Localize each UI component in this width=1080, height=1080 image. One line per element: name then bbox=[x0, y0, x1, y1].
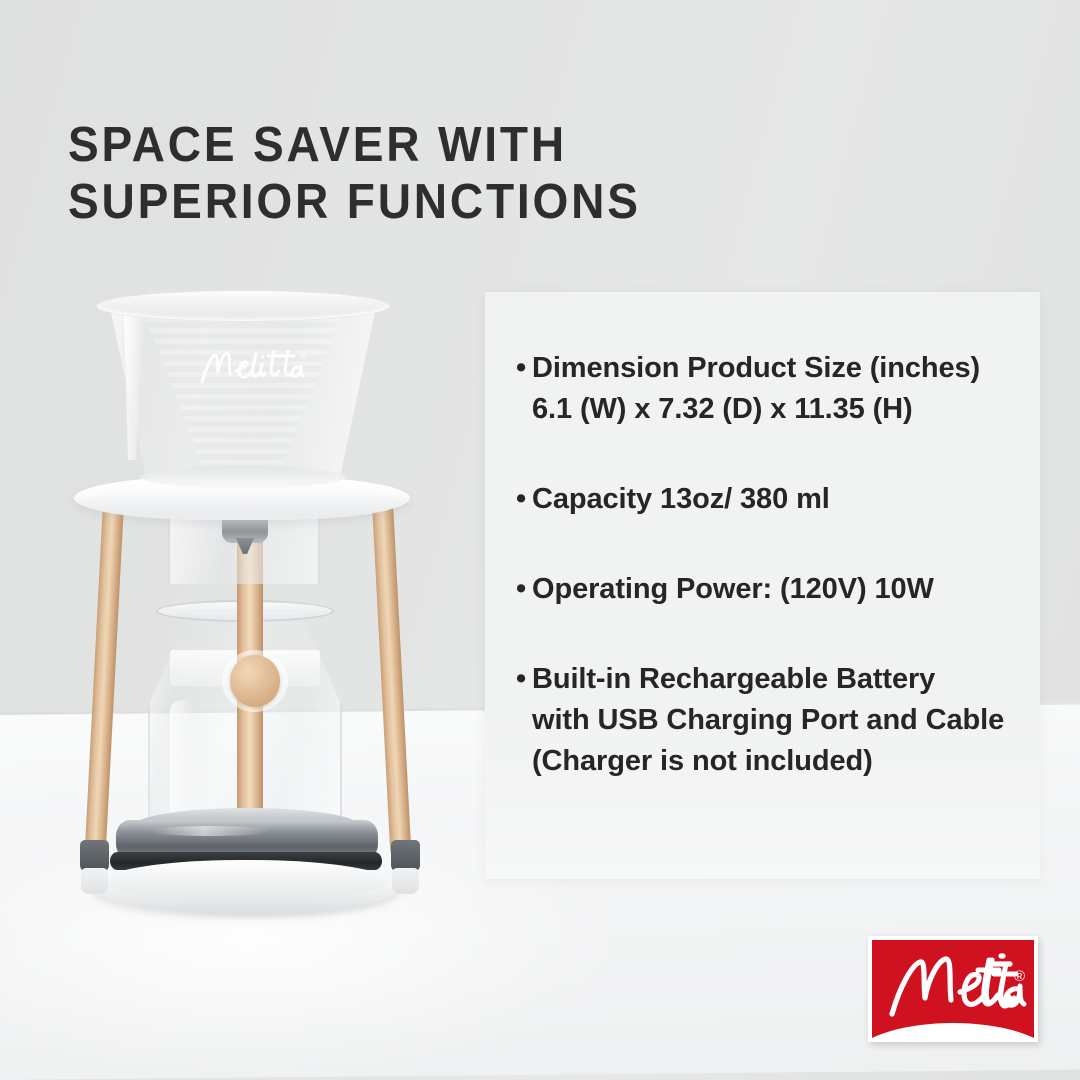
foot-tip-right bbox=[392, 868, 419, 894]
svg-text:®: ® bbox=[300, 350, 307, 360]
melitta-wordmark: ® bbox=[868, 936, 1038, 1042]
white-platform-lip bbox=[84, 486, 400, 520]
wooden-knob bbox=[230, 655, 280, 707]
spec-item-dimension: Dimension Product Size (inches) 6.1 (W) … bbox=[516, 348, 1046, 430]
dripper-rim bbox=[96, 290, 390, 322]
plate-highlight bbox=[150, 826, 270, 836]
spec-item-capacity: Capacity 13oz/ 380 ml bbox=[516, 479, 1046, 520]
wooden-leg-right bbox=[372, 502, 411, 855]
spec-item-battery: Built-in Rechargeable Battery with USB C… bbox=[516, 659, 1046, 782]
base-disc-inner bbox=[104, 864, 388, 900]
infographic-canvas: SPACE SAVER WITH SUPERIOR FUNCTIONS bbox=[0, 0, 1080, 1080]
spec-item-operating-power: Operating Power: (120V) 10W bbox=[516, 569, 1046, 610]
svg-text:®: ® bbox=[1014, 968, 1025, 985]
dripper-base-ring bbox=[140, 466, 346, 488]
foot-tip-left bbox=[81, 868, 108, 894]
spec-list: Dimension Product Size (inches) 6.1 (W) … bbox=[516, 292, 1046, 782]
wooden-leg-left bbox=[85, 502, 124, 855]
melitta-logo: ® bbox=[868, 936, 1038, 1042]
melitta-script-on-dripper: ® bbox=[196, 344, 314, 392]
